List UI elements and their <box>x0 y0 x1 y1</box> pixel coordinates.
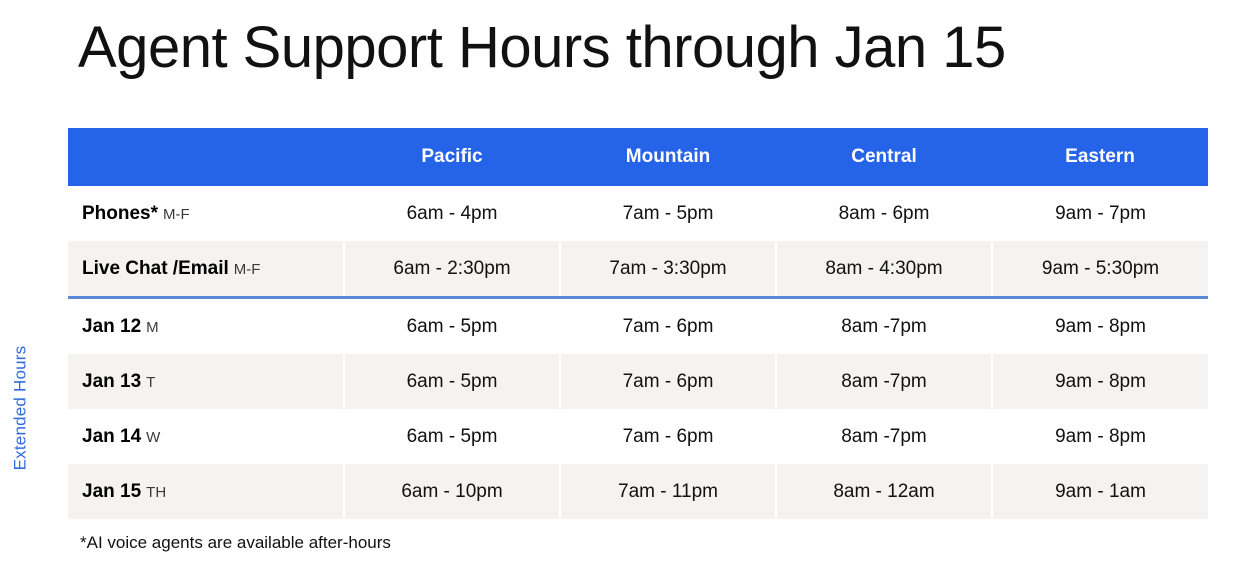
cell-eastern: 9am - 8pm <box>992 298 1208 355</box>
row-label-cell: Jan 15TH <box>68 464 344 519</box>
table-row: Jan 12M6am - 5pm7am - 6pm8am -7pm9am - 8… <box>68 298 1208 355</box>
row-label-cell: Jan 13T <box>68 354 344 409</box>
cell-central: 8am - 12am <box>776 464 992 519</box>
row-label-primary: Phones* <box>82 203 158 224</box>
row-label-primary: Jan 13 <box>82 371 141 392</box>
cell-mountain: 7am - 11pm <box>560 464 776 519</box>
cell-mountain: 7am - 6pm <box>560 298 776 355</box>
row-label-primary: Jan 15 <box>82 481 141 502</box>
column-header-eastern: Eastern <box>992 128 1208 186</box>
cell-eastern: 9am - 1am <box>992 464 1208 519</box>
row-label-primary: Live Chat /Email <box>82 258 229 279</box>
table-header: Pacific Mountain Central Eastern <box>68 128 1208 186</box>
cell-central: 8am -7pm <box>776 409 992 464</box>
support-hours-table: Pacific Mountain Central Eastern Phones*… <box>68 128 1208 519</box>
cell-pacific: 6am - 5pm <box>344 298 560 355</box>
row-label-cell: Phones*M-F <box>68 186 344 241</box>
extended-hours-side-label-text: Extended Hours <box>10 345 30 470</box>
cell-eastern: 9am - 7pm <box>992 186 1208 241</box>
row-label-primary: Jan 12 <box>82 316 141 337</box>
page-title: Agent Support Hours through Jan 15 <box>78 16 1006 80</box>
table-row: Live Chat /EmailM-F6am - 2:30pm7am - 3:3… <box>68 241 1208 298</box>
column-header-pacific: Pacific <box>344 128 560 186</box>
table-body: Phones*M-F6am - 4pm7am - 5pm8am - 6pm9am… <box>68 186 1208 519</box>
table-row: Phones*M-F6am - 4pm7am - 5pm8am - 6pm9am… <box>68 186 1208 241</box>
column-header-mountain: Mountain <box>560 128 776 186</box>
row-label-days: W <box>146 429 160 446</box>
cell-mountain: 7am - 6pm <box>560 354 776 409</box>
cell-central: 8am -7pm <box>776 298 992 355</box>
row-label-days: M-F <box>234 261 261 278</box>
row-label-days: T <box>146 374 155 391</box>
cell-central: 8am -7pm <box>776 354 992 409</box>
column-header-central: Central <box>776 128 992 186</box>
cell-pacific: 6am - 10pm <box>344 464 560 519</box>
table-row: Jan 13T6am - 5pm7am - 6pm8am -7pm9am - 8… <box>68 354 1208 409</box>
row-label-cell: Live Chat /EmailM-F <box>68 241 344 298</box>
row-label-days: M-F <box>163 206 190 223</box>
row-label-cell: Jan 14W <box>68 409 344 464</box>
extended-hours-side-label: Extended Hours <box>6 300 34 515</box>
row-label-days: M <box>146 319 159 336</box>
column-header-blank <box>68 128 344 186</box>
cell-pacific: 6am - 5pm <box>344 354 560 409</box>
cell-pacific: 6am - 4pm <box>344 186 560 241</box>
cell-pacific: 6am - 2:30pm <box>344 241 560 298</box>
cell-eastern: 9am - 8pm <box>992 354 1208 409</box>
cell-central: 8am - 6pm <box>776 186 992 241</box>
cell-mountain: 7am - 5pm <box>560 186 776 241</box>
cell-eastern: 9am - 5:30pm <box>992 241 1208 298</box>
footnote: *AI voice agents are available after-hou… <box>80 533 391 553</box>
row-label-primary: Jan 14 <box>82 426 141 447</box>
table-row: Jan 15TH6am - 10pm7am - 11pm8am - 12am9a… <box>68 464 1208 519</box>
cell-mountain: 7am - 3:30pm <box>560 241 776 298</box>
cell-eastern: 9am - 8pm <box>992 409 1208 464</box>
cell-pacific: 6am - 5pm <box>344 409 560 464</box>
cell-central: 8am - 4:30pm <box>776 241 992 298</box>
table-header-row: Pacific Mountain Central Eastern <box>68 128 1208 186</box>
table-row: Jan 14W6am - 5pm7am - 6pm8am -7pm9am - 8… <box>68 409 1208 464</box>
cell-mountain: 7am - 6pm <box>560 409 776 464</box>
row-label-cell: Jan 12M <box>68 298 344 355</box>
row-label-days: TH <box>146 484 166 501</box>
slide-canvas: Agent Support Hours through Jan 15 Exten… <box>0 0 1250 575</box>
